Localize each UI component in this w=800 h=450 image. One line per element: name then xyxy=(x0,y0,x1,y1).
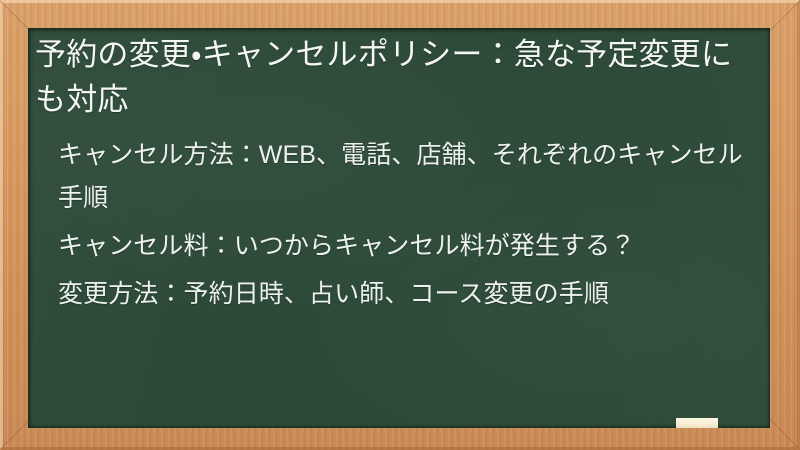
chalkboard-slide: 予約の変更・キャンセルポリシー：急な予定変更にも対応 キャンセル方法：WEB、電… xyxy=(0,0,800,450)
bullet-item: キャンセル方法：WEB、電話、店舗、それぞれのキャンセル手順 xyxy=(58,134,758,220)
chalkboard-surface: 予約の変更・キャンセルポリシー：急な予定変更にも対応 キャンセル方法：WEB、電… xyxy=(28,28,770,428)
slide-title: 予約の変更・キャンセルポリシー：急な予定変更にも対応 xyxy=(35,32,745,122)
bullet-item: キャンセル料：いつからキャンセル料が発生する？ xyxy=(58,225,758,268)
bullet-item: 変更方法：予約日時、占い師、コース変更の手順 xyxy=(58,273,758,316)
bullet-list: キャンセル方法：WEB、電話、店舗、それぞれのキャンセル手順 キャンセル料：いつ… xyxy=(58,134,758,321)
chalk-stick-icon xyxy=(676,418,718,428)
